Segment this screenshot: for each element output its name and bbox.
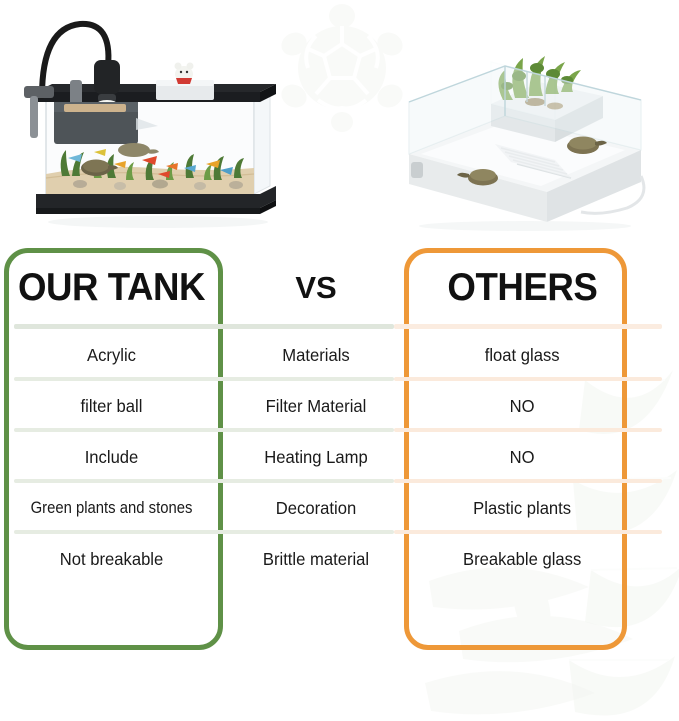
table-row: Not breakable Brittle material Breakable…: [0, 534, 679, 585]
header-others: OTHERS: [417, 268, 671, 307]
cell-others-value: Breakable glass: [416, 550, 673, 569]
our-turtle-tank-photo: [8, 8, 308, 236]
cell-ours-value: Acrylic: [6, 346, 218, 365]
row-divider-left: [14, 581, 394, 585]
cell-attribute: Filter Material: [228, 397, 405, 416]
cell-ours-value: filter ball: [6, 397, 218, 416]
cell-ours-value: Not breakable: [6, 550, 218, 569]
row-divider-right: [394, 581, 662, 585]
header-divider-right: [394, 324, 662, 329]
cell-attribute: Decoration: [228, 499, 405, 518]
header-vs: VS: [223, 272, 409, 303]
cell-ours-value: Include: [6, 448, 218, 467]
cell-attribute: Brittle material: [228, 550, 405, 569]
header-divider: [0, 324, 679, 329]
cell-others-value: NO: [416, 397, 673, 416]
cell-attribute: Materials: [228, 346, 405, 365]
cell-attribute: Heating Lamp: [228, 448, 405, 467]
competitor-turtle-tank-photo: [395, 42, 655, 232]
comparison-table: Acrylic Materials float glass filter bal…: [0, 330, 679, 585]
header-our-tank: OUR TANK: [7, 268, 217, 307]
table-row: filter ball Filter Material NO: [0, 381, 679, 432]
comparison-header: OUR TANK VS OTHERS: [0, 256, 679, 318]
table-row: Acrylic Materials float glass: [0, 330, 679, 381]
cell-ours-value: Green plants and stones: [11, 499, 212, 517]
cell-others-value: NO: [416, 448, 673, 467]
cell-others-value: float glass: [416, 346, 673, 365]
table-row: Include Heating Lamp NO: [0, 432, 679, 483]
table-row: Green plants and stones Decoration Plast…: [0, 483, 679, 534]
comparison-infographic: OUR TANK VS OTHERS Acrylic Materials flo…: [0, 0, 679, 721]
cell-others-value: Plastic plants: [416, 499, 673, 518]
header-divider-left: [14, 324, 394, 329]
